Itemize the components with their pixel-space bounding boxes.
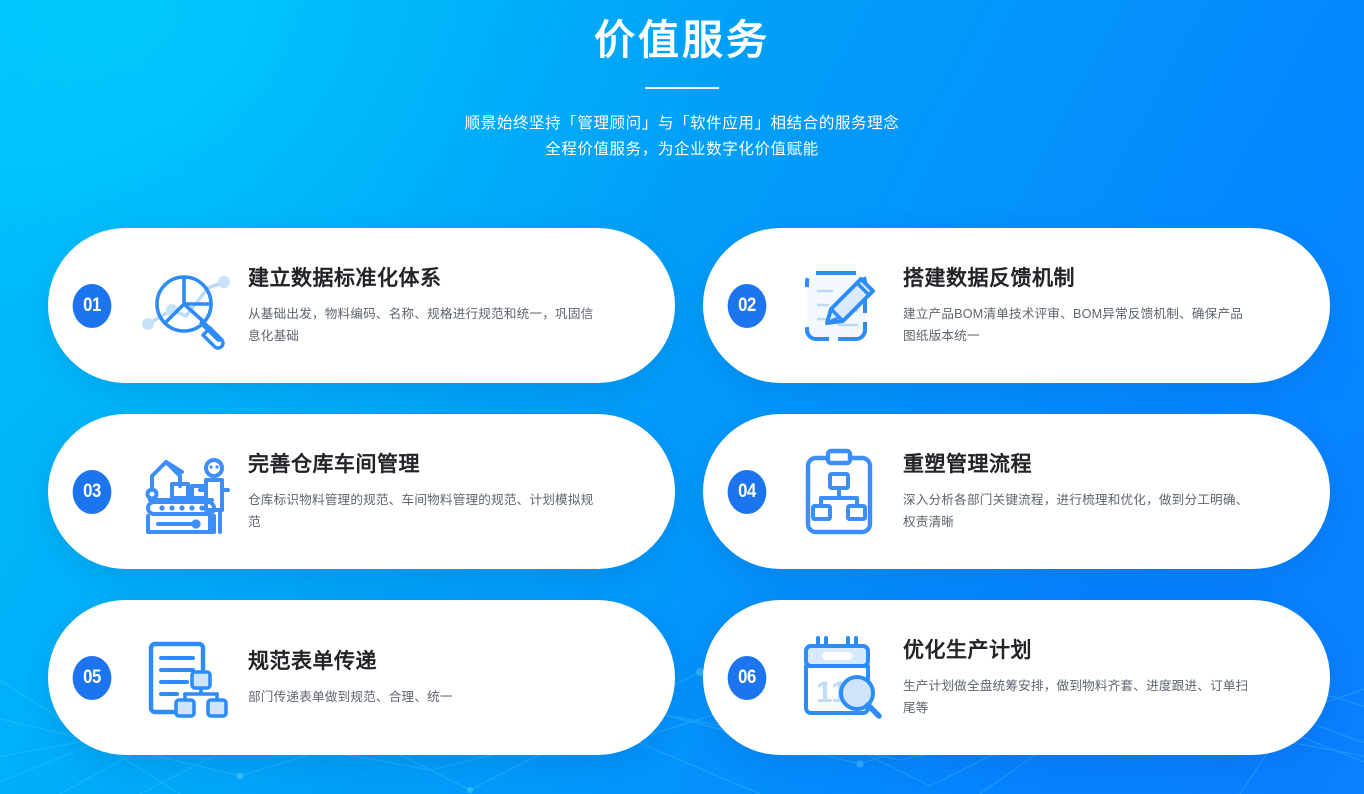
card-description: 建立产品BOM清单技术评审、BOM异常反馈机制、确保产品图纸版本统一 <box>903 303 1255 347</box>
card-number-badge: 03 <box>73 470 112 514</box>
calendar-magnifier-icon: 11 <box>787 630 895 726</box>
page-stage: 价值服务 顺景始终坚持「管理顾问」与「软件应用」相结合的服务理念 全程价值服务，… <box>0 0 1364 794</box>
service-card[interactable]: 04 <box>703 414 1330 569</box>
card-description: 部门传递表单做到规范、合理、统一 <box>248 686 641 708</box>
card-text-block: 搭建数据反馈机制 建立产品BOM清单技术评审、BOM异常反馈机制、确保产品图纸版… <box>895 264 1330 347</box>
card-text-block: 完善仓库车间管理 仓库标识物料管理的规范、车间物料管理的规范、计划模拟规范 <box>240 450 675 533</box>
pie-chart-magnifier-icon <box>132 258 240 354</box>
page-subtitle: 顺景始终坚持「管理顾问」与「软件应用」相结合的服务理念 全程价值服务，为企业数字… <box>0 111 1364 163</box>
factory-conveyor-worker-icon <box>132 444 240 540</box>
title-divider <box>645 87 719 89</box>
card-title: 完善仓库车间管理 <box>248 450 641 480</box>
service-card[interactable]: 02 搭建数据反馈机制 <box>703 228 1330 383</box>
card-number-badge: 01 <box>73 284 112 328</box>
page-header: 价值服务 顺景始终坚持「管理顾问」与「软件应用」相结合的服务理念 全程价值服务，… <box>0 0 1364 163</box>
card-text-block: 优化生产计划 生产计划做全盘统筹安排，做到物料齐套、进度跟进、订单扫尾等 <box>895 636 1330 719</box>
card-text-block: 规范表单传递 部门传递表单做到规范、合理、统一 <box>240 647 675 708</box>
service-card[interactable]: 06 11 优化生产计划 生产计划做全盘统筹安排，做到物料齐套、 <box>703 600 1330 755</box>
card-title: 重塑管理流程 <box>903 450 1296 480</box>
service-card[interactable]: 01 <box>48 228 675 383</box>
card-number-badge: 05 <box>73 656 112 700</box>
page-title: 价值服务 <box>0 10 1364 70</box>
card-title: 搭建数据反馈机制 <box>903 264 1296 294</box>
clipboard-org-chart-icon <box>787 444 895 540</box>
card-number-badge: 02 <box>728 284 767 328</box>
document-flow-chart-icon <box>132 630 240 726</box>
card-description: 从基础出发，物料编码、名称、规格进行规范和统一，巩固信息化基础 <box>248 303 600 347</box>
card-title: 规范表单传递 <box>248 647 641 677</box>
card-text-block: 建立数据标准化体系 从基础出发，物料编码、名称、规格进行规范和统一，巩固信息化基… <box>240 264 675 347</box>
card-title: 建立数据标准化体系 <box>248 264 641 294</box>
document-pencil-icon <box>787 258 895 354</box>
service-card[interactable]: 03 <box>48 414 675 569</box>
card-number-badge: 04 <box>728 470 767 514</box>
service-card[interactable]: 05 <box>48 600 675 755</box>
card-description: 生产计划做全盘统筹安排，做到物料齐套、进度跟进、订单扫尾等 <box>903 675 1255 719</box>
service-card-grid: 01 <box>48 228 1330 755</box>
subtitle-line-2: 全程价值服务，为企业数字化价值赋能 <box>0 137 1364 163</box>
card-description: 深入分析各部门关键流程，进行梳理和优化，做到分工明确、权责清晰 <box>903 489 1255 533</box>
subtitle-line-1: 顺景始终坚持「管理顾问」与「软件应用」相结合的服务理念 <box>0 111 1364 137</box>
card-number-badge: 06 <box>728 656 767 700</box>
card-text-block: 重塑管理流程 深入分析各部门关键流程，进行梳理和优化，做到分工明确、权责清晰 <box>895 450 1330 533</box>
card-title: 优化生产计划 <box>903 636 1296 666</box>
card-description: 仓库标识物料管理的规范、车间物料管理的规范、计划模拟规范 <box>248 489 600 533</box>
